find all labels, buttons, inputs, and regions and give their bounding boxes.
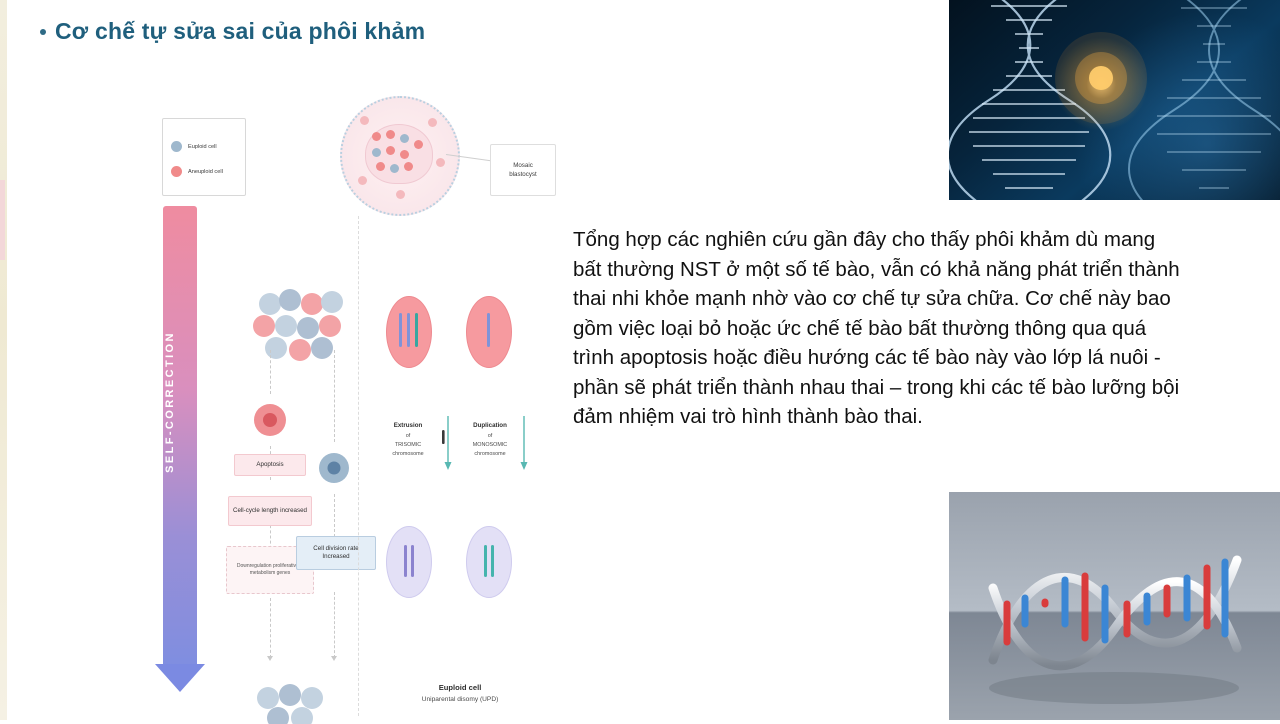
trophectoderm-cell-icon [358,176,367,185]
label-extrusion-line-3: TRISOMIC [372,441,444,450]
aneuploid-cell-icon [386,146,395,155]
connector-dashed-line [270,598,271,658]
page-left-edge-accent [0,180,5,260]
dna-double-helix-glow-image [949,0,1280,200]
legend-label-aneuploid: Aneuploid cell [188,169,223,175]
panel-divider [358,216,359,716]
euploid-cell-graphic-left [386,526,432,598]
callout-line-2: blastocyst [509,170,537,179]
arrow-down-icon [267,656,273,661]
slide-title-row: Cơ chế tự sửa sai của phôi khảm [40,18,425,45]
dna-model-red-blue-image [949,492,1280,720]
label-extrusion-line-1: Extrusion [372,422,444,431]
trisomic-cell-graphic [386,296,432,368]
callout-line-1: Mosaic [513,161,533,170]
apoptotic-cell-graphic [246,396,294,444]
euploid-cell-icon [400,134,409,143]
dna-top-helix-graphic [949,0,1280,200]
duplication-arrow-icon [512,414,536,470]
label-extrusion-line-2: of [372,432,444,441]
euploid-cell-icon [372,148,381,157]
connector-dashed-line [334,350,335,442]
body-paragraph: Tổng hợp các nghiên cứu gần đây cho thấy… [573,225,1183,432]
extrusion-arrow-icon [436,414,460,470]
trophectoderm-cell-icon [396,190,405,199]
box-cell-division-rate: Cell division rate Increased [296,536,376,570]
legend-item-euploid: Euploid cell [171,141,217,152]
aneuploid-cell-icon [171,166,182,177]
page-left-edge-strip [0,0,7,720]
box-cell-cycle-length: Cell-cycle length increased [228,496,312,526]
page-title: Cơ chế tự sửa sai của phôi khảm [55,18,425,45]
euploid-cell-graphic-right [466,526,512,598]
label-euploid-cell: Euploid cell [400,684,520,693]
aneuploid-cell-icon [386,130,395,139]
self-correction-diagram: Euploid cell Aneuploid cell SELF-CORRECT… [150,96,570,720]
box-apoptosis: Apoptosis [234,454,306,476]
legend-label-euploid: Euploid cell [188,144,217,150]
dna-bottom-helix-graphic [949,492,1280,720]
mosaic-blastocyst-graphic [340,96,460,216]
bullet-dot-icon [40,29,46,35]
legend-item-aneuploid: Aneuploid cell [171,166,223,177]
monosomic-cell-graphic [466,296,512,368]
trophectoderm-cell-icon [360,116,369,125]
arrow-down-icon [331,656,337,661]
self-correction-axis-label: SELF-CORRECTION [164,292,176,512]
trophectoderm-cell-icon [436,158,445,167]
cell-cluster-graphic [246,286,366,406]
connector-dashed-line [334,592,335,658]
mosaic-blastocyst-callout: Mosaic blastocyst [490,144,556,196]
euploid-cell-icon [171,141,182,152]
aneuploid-cell-icon [414,140,423,149]
dividing-cell-graphic [310,444,358,492]
label-uniparental-disomy: Uniparental disomy (UPD) [390,696,530,705]
label-extrusion-line-4: chromosome [372,450,444,459]
aneuploid-cell-icon [404,162,413,171]
connector-dashed-line [270,350,271,394]
euploid-cell-icon [390,164,399,173]
aneuploid-cell-icon [376,162,385,171]
bottom-cell-cluster-graphic [246,684,336,724]
trophectoderm-cell-icon [428,118,437,127]
diagram-legend: Euploid cell Aneuploid cell [162,118,246,196]
connector-dashed-line [334,494,335,542]
self-correction-axis-arrow-icon [155,664,205,692]
aneuploid-cell-icon [400,150,409,159]
aneuploid-cell-icon [372,132,381,141]
